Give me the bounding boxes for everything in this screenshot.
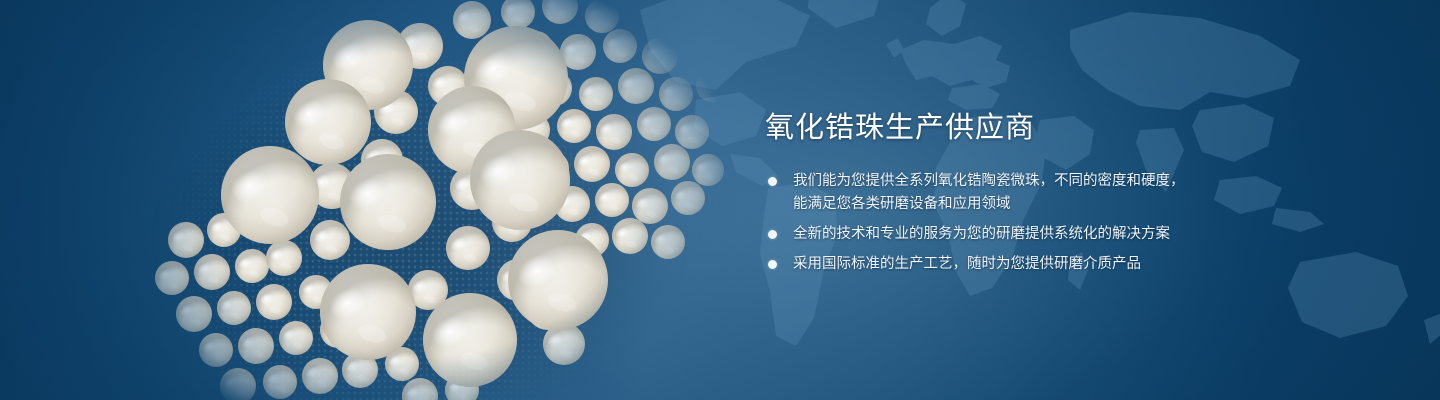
list-item-line: 我们能为您提供全系列氧化锆陶瓷微珠，不同的密度和硬度，: [793, 170, 1235, 193]
bullet-dot-icon: [768, 260, 777, 269]
list-item-line: 采用国际标准的生产工艺，随时为您提供研磨介质产品: [793, 253, 1235, 276]
feature-list: 我们能为您提供全系列氧化锆陶瓷微珠，不同的密度和硬度， 能满足您各类研磨设备和应…: [765, 170, 1235, 276]
bullet-dot-icon: [768, 230, 777, 239]
hero-banner: 氧化锆珠生产供应商 我们能为您提供全系列氧化锆陶瓷微珠，不同的密度和硬度， 能满…: [0, 0, 1440, 400]
bullet-dot-icon: [768, 177, 777, 186]
list-item: 全新的技术和专业的服务为您的研磨提供系统化的解决方案: [765, 223, 1235, 246]
list-item: 采用国际标准的生产工艺，随时为您提供研磨介质产品: [765, 253, 1235, 276]
list-item-line: 全新的技术和专业的服务为您的研磨提供系统化的解决方案: [793, 223, 1235, 246]
banner-content: 氧化锆珠生产供应商 我们能为您提供全系列氧化锆陶瓷微珠，不同的密度和硬度， 能满…: [765, 108, 1235, 276]
list-item: 我们能为您提供全系列氧化锆陶瓷微珠，不同的密度和硬度， 能满足您各类研磨设备和应…: [765, 170, 1235, 216]
page-title: 氧化锆珠生产供应商: [765, 108, 1235, 148]
list-item-line: 能满足您各类研磨设备和应用领域: [793, 193, 1235, 216]
